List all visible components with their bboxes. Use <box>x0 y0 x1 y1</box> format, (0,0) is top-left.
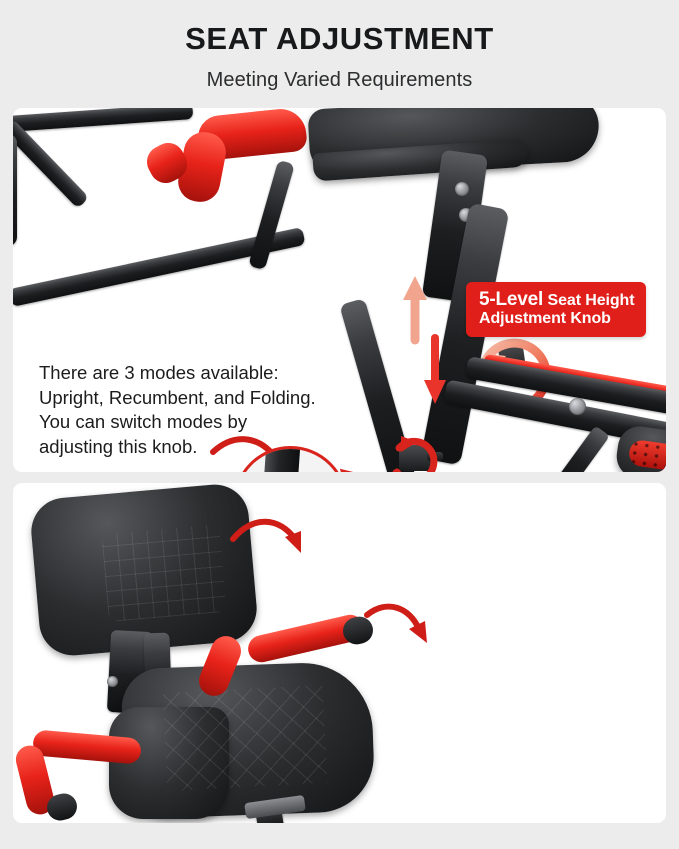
frame-loop-right-riser <box>248 160 295 270</box>
frame-loop-curve <box>13 118 89 208</box>
curved-arrow-icon-to-handlebar <box>365 599 441 655</box>
frame-loop-top <box>13 108 193 133</box>
rotate-arrow-icon-knob <box>385 430 449 472</box>
frame-loop-left <box>13 134 17 246</box>
seat-cushion-texture <box>163 685 328 791</box>
up-down-arrow-icon <box>393 268 453 413</box>
curved-arrow-icon-to-backrest <box>229 513 313 569</box>
label-line-1: 5-Level Seat Height <box>479 289 634 310</box>
frame-pedal-arm <box>554 425 610 472</box>
backrest-bracket-bolt <box>107 676 118 687</box>
frame-rail-bolt <box>569 398 586 415</box>
seat-height-illustration: TO ADJUST THEN PULL LOOSEN 5-Level Seat … <box>13 108 666 472</box>
label-line-2: Adjustment Knob <box>479 310 634 328</box>
pointer-triangle-icon <box>340 461 378 472</box>
panel-seat-height: TO ADJUST THEN PULL LOOSEN 5-Level Seat … <box>13 108 666 472</box>
text-modes-description: There are 3 modes available: Upright, Re… <box>39 361 369 459</box>
seat-post-hole-1 <box>455 182 469 196</box>
backrest-illustration: Wide Comfortable Backrest The rear handl… <box>13 483 666 823</box>
page-header: SEAT ADJUSTMENT Meeting Varied Requireme… <box>0 0 679 92</box>
label-lead-text: 5-Level <box>479 289 543 310</box>
label-rest-text: Seat Height <box>548 292 635 309</box>
page-subtitle: Meeting Varied Requirements <box>0 57 679 92</box>
page-title: SEAT ADJUSTMENT <box>0 0 679 57</box>
label-seat-height-knob: 5-Level Seat Height Adjustment Knob <box>466 282 646 337</box>
panel-backrest: Wide Comfortable Backrest The rear handl… <box>13 483 666 823</box>
backrest-mesh-texture <box>101 524 226 622</box>
